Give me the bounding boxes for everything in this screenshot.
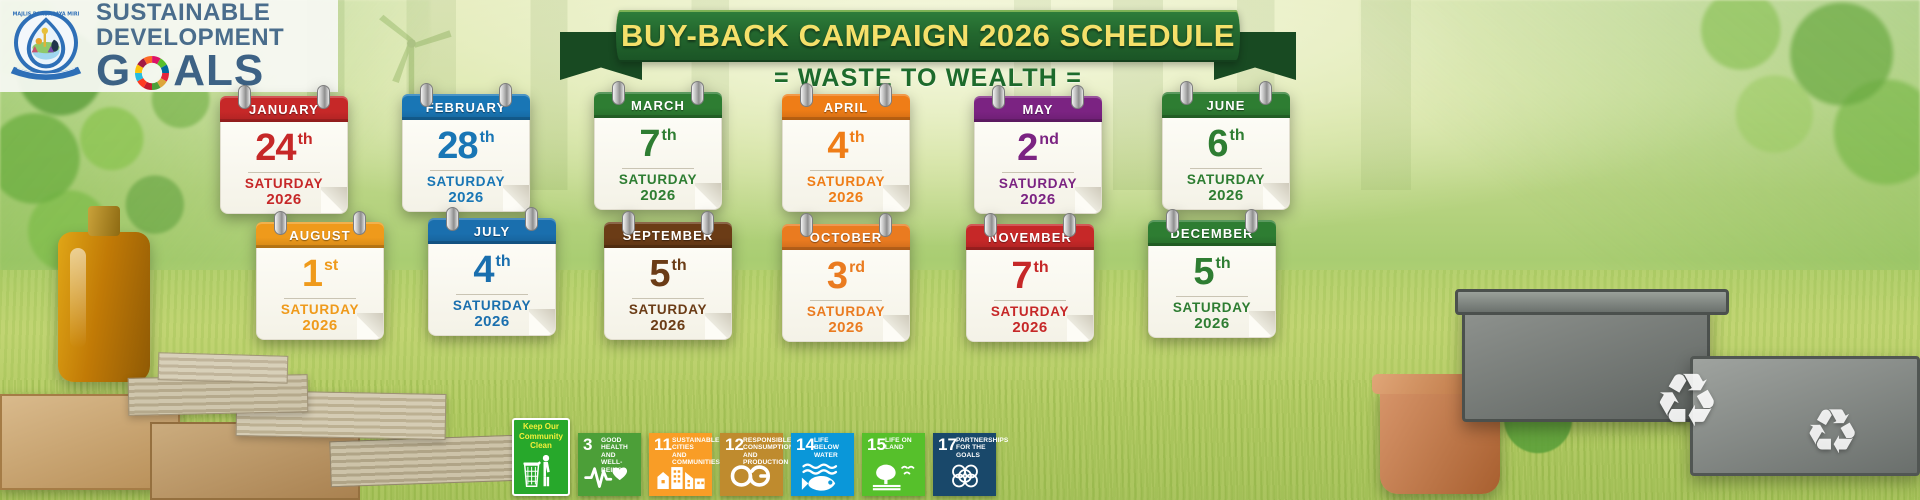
- calendar-card-body: 3rdSATURDAY2026: [782, 250, 910, 342]
- calendar-card-september[interactable]: SEPTEMBER5thSATURDAY2026: [604, 222, 732, 340]
- majlis-bandaraya-miri-seal: MAJLIS BANDARAYA MIRI: [6, 6, 86, 86]
- sdg-badge-11: 11SUSTAINABLE CITIES AND COMMUNITIES: [649, 433, 712, 496]
- calendar-year-label: 2026: [474, 313, 509, 330]
- binder-ring-icon: [1071, 85, 1084, 109]
- sdg-badge-title: LIFE BELOW WATER: [814, 437, 851, 459]
- calendar-year-label: 2026: [828, 189, 863, 206]
- sdg-badge-15: 15LIFE ON LAND: [862, 433, 925, 496]
- calendar-card-december[interactable]: DECEMBER5thSATURDAY2026: [1148, 220, 1276, 338]
- calendar-day-number: 28: [437, 127, 477, 165]
- calendar-card-body: 1stSATURDAY2026: [256, 248, 384, 340]
- calendar-weekday-label: SATURDAY: [427, 174, 505, 190]
- calendar-weekday-label: SATURDAY: [807, 174, 885, 190]
- calendar-day-suffix: th: [480, 130, 495, 146]
- calendar-card-may[interactable]: MAY2ndSATURDAY2026: [974, 96, 1102, 214]
- sdg-badge-3: 3GOOD HEALTH AND WELL-BEING: [578, 433, 641, 496]
- calendar-weekday-label: SATURDAY: [245, 176, 323, 192]
- calendar-day-number: 2: [1017, 129, 1037, 167]
- calendar-day-suffix: th: [1216, 256, 1231, 272]
- calendar-day-number: 24: [255, 129, 295, 167]
- banner-subtitle: = WASTE TO WEALTH =: [578, 64, 1278, 93]
- calendar-card-january[interactable]: JANUARY24thSATURDAY2026: [220, 96, 348, 214]
- sdg-word-goals-g: G: [96, 51, 131, 91]
- calendar-card-february[interactable]: FEBRUARY28thSATURDAY2026: [402, 94, 530, 212]
- calendar-day-suffix: th: [1230, 128, 1245, 144]
- binder-ring-icon: [238, 85, 251, 109]
- binder-ring-icon: [879, 83, 892, 107]
- infinity-loop-icon: [720, 459, 783, 493]
- calendar-year-label: 2026: [650, 317, 685, 334]
- calendar-day-number: 5: [649, 255, 669, 293]
- sdg-badge-number: 3: [583, 436, 592, 453]
- calendar-card-october[interactable]: OCTOBER3rdSATURDAY2026: [782, 224, 910, 342]
- sdg-wordmark: SUSTAINABLE DEVELOPMENT G: [96, 1, 284, 91]
- binder-ring-icon: [992, 85, 1005, 109]
- calendar-day-number: 6: [1207, 125, 1227, 163]
- binder-ring-icon: [1259, 81, 1272, 105]
- calendar-day-suffix: st: [324, 258, 338, 274]
- calendar-weekday-label: SATURDAY: [629, 302, 707, 318]
- newspaper-bundle-prop: [329, 435, 520, 488]
- calendar-card-april[interactable]: APRIL4thSATURDAY2026: [782, 94, 910, 212]
- calendar-card-body: 7thSATURDAY2026: [966, 250, 1094, 342]
- calendar-month-label: JUNE: [1206, 98, 1245, 113]
- calendar-month-label: SEPTEMBER: [623, 228, 714, 243]
- calendar-month-label: FEBRUARY: [426, 100, 507, 115]
- calendar-card-body: 6thSATURDAY2026: [1162, 118, 1290, 210]
- fish-waves-icon: [791, 459, 854, 493]
- calendar-day-suffix: th: [662, 128, 677, 144]
- heartbeat-icon: [578, 459, 641, 493]
- calendar-day-number: 5: [1193, 253, 1213, 291]
- calendar-month-label: MARCH: [631, 98, 685, 113]
- calendar-weekday-label: SATURDAY: [281, 302, 359, 318]
- tree-birds-icon: [862, 459, 925, 493]
- campaign-banner: BUY-BACK CAMPAIGN 2026 SCHEDULE = WASTE …: [578, 4, 1278, 96]
- binder-ring-icon: [800, 83, 813, 107]
- binder-ring-icon: [525, 207, 538, 231]
- recycle-symbol-icon: ♻: [1804, 402, 1860, 464]
- sdg-badge-keep-our-community-clean: Keep Our Community Clean: [512, 418, 570, 496]
- calendar-divider: [430, 170, 502, 171]
- calendar-day-number: 4: [827, 127, 847, 165]
- calendar-month-label: AUGUST: [289, 228, 351, 243]
- calendar-year-label: 2026: [1194, 315, 1229, 332]
- calendar-day-number: 4: [473, 251, 493, 289]
- calendar-divider: [810, 300, 882, 301]
- sdg-badge-number: 14: [796, 436, 815, 453]
- calendar-divider: [1002, 172, 1074, 173]
- calendar-card-body: 5thSATURDAY2026: [604, 248, 732, 340]
- calendar-month-label: NOVEMBER: [988, 230, 1072, 245]
- sdg-badge-14: 14LIFE BELOW WATER: [791, 433, 854, 496]
- interlocking-rings-icon: [933, 459, 996, 493]
- recycle-symbol-icon: ♻: [1654, 364, 1720, 438]
- calendar-card-body: 24thSATURDAY2026: [220, 122, 348, 214]
- svg-text:MAJLIS BANDARAYA MIRI: MAJLIS BANDARAYA MIRI: [13, 12, 80, 18]
- sdg-badge-title: Keep Our Community Clean: [514, 422, 568, 451]
- calendar-weekday-label: SATURDAY: [619, 172, 697, 188]
- binder-ring-icon: [274, 211, 287, 235]
- calendar-year-label: 2026: [302, 317, 337, 334]
- sdg-badge-number: 12: [725, 436, 744, 453]
- calendar-day-number: 7: [1011, 257, 1031, 295]
- binder-ring-icon: [1245, 209, 1258, 233]
- sdg-word-goals-als: ALS: [173, 51, 264, 91]
- binder-ring-icon: [701, 211, 714, 235]
- binder-ring-icon: [1180, 81, 1193, 105]
- banner-title: BUY-BACK CAMPAIGN 2026 SCHEDULE: [621, 18, 1235, 54]
- city-buildings-icon: [649, 459, 712, 493]
- sdg-badge-title: LIFE ON LAND: [885, 437, 922, 452]
- calendar-divider: [284, 298, 356, 299]
- sdg-badge-number: 17: [938, 436, 957, 453]
- binder-ring-icon: [612, 81, 625, 105]
- sdg-badge-17: 17PARTNERSHIPS FOR THE GOALS: [933, 433, 996, 496]
- binder-ring-icon: [691, 81, 704, 105]
- calendar-day-suffix: th: [850, 130, 865, 146]
- calendar-month-label: APRIL: [824, 100, 869, 115]
- calendar-year-label: 2026: [1208, 187, 1243, 204]
- calendar-card-july[interactable]: JULY4thSATURDAY2026: [428, 218, 556, 336]
- calendar-weekday-label: SATURDAY: [1173, 300, 1251, 316]
- binder-ring-icon: [1166, 209, 1179, 233]
- calendar-day-suffix: nd: [1039, 132, 1059, 148]
- calendar-month-label: MAY: [1023, 102, 1054, 117]
- calendar-divider: [248, 172, 320, 173]
- calendar-weekday-label: SATURDAY: [991, 304, 1069, 320]
- calendar-year-label: 2026: [266, 191, 301, 208]
- glass-jar-prop: [58, 232, 150, 382]
- calendar-card-body: 28thSATURDAY2026: [402, 120, 530, 212]
- calendar-year-label: 2026: [448, 189, 483, 206]
- sdg-badge-strip: Keep Our Community Clean3GOOD HEALTH AND…: [512, 418, 996, 496]
- calendar-day-number: 7: [639, 125, 659, 163]
- calendar-divider: [1176, 296, 1248, 297]
- litter-bin-icon: [514, 448, 568, 492]
- calendar-day-suffix: th: [298, 132, 313, 148]
- binder-ring-icon: [446, 207, 459, 231]
- calendar-card-june[interactable]: JUNE6thSATURDAY2026: [1162, 92, 1290, 210]
- calendar-card-november[interactable]: NOVEMBER7thSATURDAY2026: [966, 224, 1094, 342]
- calendar-divider: [810, 170, 882, 171]
- calendar-year-label: 2026: [640, 187, 675, 204]
- sdg-badge-number: 15: [867, 436, 886, 453]
- calendar-month-label: JANUARY: [249, 102, 319, 117]
- calendar-card-body: 2ndSATURDAY2026: [974, 122, 1102, 214]
- calendar-day-suffix: th: [496, 254, 511, 270]
- calendar-divider: [994, 300, 1066, 301]
- sdg-badge-title: PARTNERSHIPS FOR THE GOALS: [956, 437, 993, 459]
- binder-ring-icon: [1063, 213, 1076, 237]
- calendar-divider: [622, 168, 694, 169]
- banner-ribbon-body: BUY-BACK CAMPAIGN 2026 SCHEDULE: [616, 10, 1240, 62]
- calendar-day-suffix: th: [1034, 260, 1049, 276]
- background-foliage-right: [1360, 0, 1920, 300]
- calendar-divider: [1190, 168, 1262, 169]
- binder-ring-icon: [800, 213, 813, 237]
- binder-ring-icon: [317, 85, 330, 109]
- binder-ring-icon: [353, 211, 366, 235]
- calendar-card-body: 4thSATURDAY2026: [782, 120, 910, 212]
- newspaper-bundle-prop: [158, 352, 289, 384]
- calendar-card-august[interactable]: AUGUST1stSATURDAY2026: [256, 222, 384, 340]
- logo-block: MAJLIS BANDARAYA MIRI SUSTAINABLE DEVELO…: [0, 0, 338, 92]
- binder-ring-icon: [420, 83, 433, 107]
- calendar-card-march[interactable]: MARCH7thSATURDAY2026: [594, 92, 722, 210]
- binder-ring-icon: [984, 213, 997, 237]
- calendar-card-body: 5thSATURDAY2026: [1148, 246, 1276, 338]
- banner-ribbon: BUY-BACK CAMPAIGN 2026 SCHEDULE: [578, 4, 1278, 66]
- binder-ring-icon: [499, 83, 512, 107]
- calendar-card-body: 7thSATURDAY2026: [594, 118, 722, 210]
- sdg-word-sustainable: SUSTAINABLE: [96, 1, 284, 25]
- calendar-year-label: 2026: [1012, 319, 1047, 336]
- calendar-day-suffix: rd: [849, 260, 865, 276]
- calendar-month-label: JULY: [474, 224, 510, 239]
- calendar-day-number: 3: [827, 257, 847, 295]
- sdg-badge-number: 11: [654, 436, 672, 453]
- calendar-year-label: 2026: [1020, 191, 1055, 208]
- sdg-color-wheel-icon: [132, 53, 172, 93]
- calendar-weekday-label: SATURDAY: [999, 176, 1077, 192]
- calendar-weekday-label: SATURDAY: [807, 304, 885, 320]
- calendar-divider: [456, 294, 528, 295]
- calendar-card-body: 4thSATURDAY2026: [428, 244, 556, 336]
- calendar-month-label: DECEMBER: [1170, 226, 1253, 241]
- calendar-day-suffix: th: [672, 258, 687, 274]
- calendar-weekday-label: SATURDAY: [1187, 172, 1265, 188]
- calendar-year-label: 2026: [828, 319, 863, 336]
- calendar-weekday-label: SATURDAY: [453, 298, 531, 314]
- sdg-badge-12: 12RESPONSIBLE CONSUMPTION AND PRODUCTION: [720, 433, 783, 496]
- binder-ring-icon: [622, 211, 635, 235]
- calendar-day-number: 1: [302, 255, 322, 293]
- calendar-month-label: OCTOBER: [810, 230, 882, 245]
- binder-ring-icon: [879, 213, 892, 237]
- calendar-divider: [632, 298, 704, 299]
